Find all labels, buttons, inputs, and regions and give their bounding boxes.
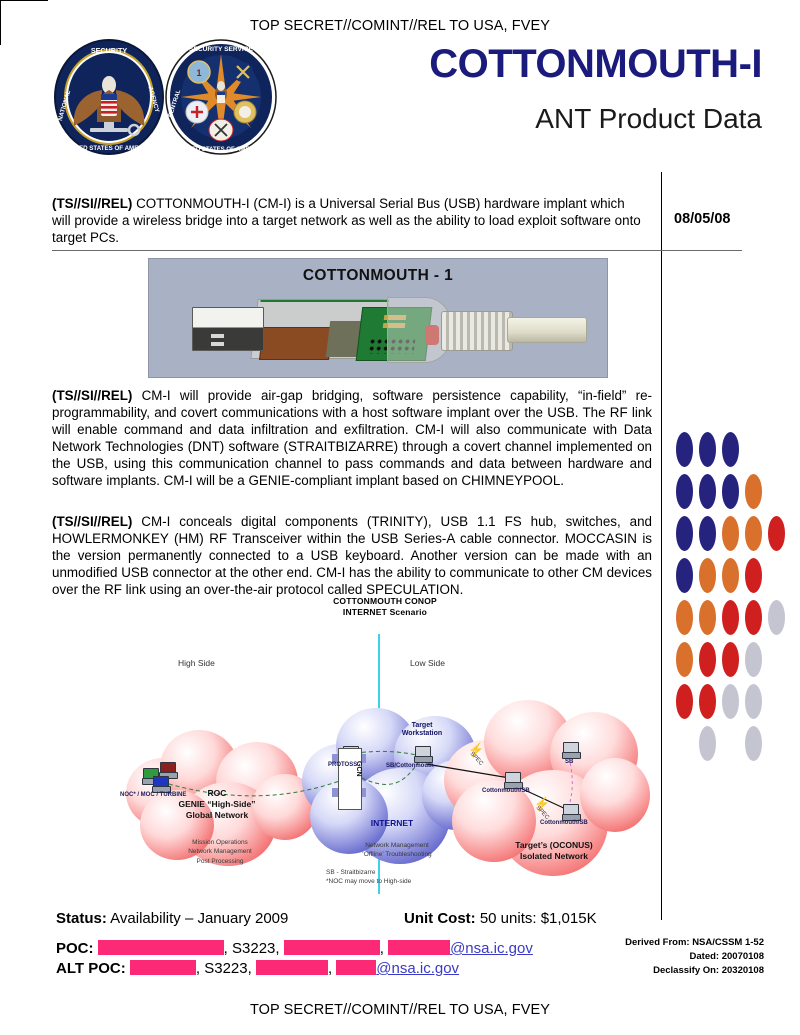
usb-strain-relief-graphic xyxy=(441,311,513,351)
cottonmouth-sb-label-2: Cottonmouth/SB xyxy=(540,820,588,826)
alt-poc-email-domain: @nsa.ic.gov xyxy=(376,960,459,977)
roc-name-line2: GENIE “High-Side” xyxy=(179,799,256,809)
classification-banner-top: TOP SECRET//COMINT//REL TO USA, FVEY xyxy=(0,18,800,34)
target-workstation-host xyxy=(414,746,431,761)
ant-dot-r3-c1 xyxy=(676,516,693,551)
roc-host-blue xyxy=(152,776,169,791)
ant-status-dot-matrix xyxy=(676,432,794,772)
usb-connector-notch-2 xyxy=(211,342,224,346)
high-side-label: High Side xyxy=(178,658,215,668)
product-image-panel: COTTONMOUTH - 1 xyxy=(148,258,608,378)
alt-poc-phone-redaction xyxy=(256,960,328,975)
ant-dot-r4-c4 xyxy=(745,558,762,593)
paragraph-capabilities: (TS//SI//REL) CM-I will provide air-gap … xyxy=(52,388,652,490)
sb-label: SB xyxy=(565,759,573,765)
alt-poc-org-code: , S3223, xyxy=(196,960,252,977)
ant-dot-r1-c1 xyxy=(676,432,693,467)
unit-cost-label: Unit Cost: xyxy=(404,910,476,927)
internet-cloud-name: INTERNET xyxy=(332,818,452,829)
usb-brown-block-graphic xyxy=(259,327,333,360)
alt-poc-name-redaction xyxy=(130,960,196,975)
svg-text:1: 1 xyxy=(196,68,201,78)
dated: Dated: 20070108 xyxy=(625,950,764,964)
conop-title-line1: COTTONMOUTH CONOP xyxy=(333,596,437,606)
ant-dot-r1-c2 xyxy=(699,432,716,467)
ant-dot-r5-c1 xyxy=(676,600,693,635)
ant-dot-r2-c4 xyxy=(745,474,762,509)
nsa-seal: SECURITY UNITED STATES OF AMERICA NATION… xyxy=(52,38,166,156)
ant-dot-r4-c1 xyxy=(676,558,693,593)
poc-org-code: , S3223, xyxy=(224,940,280,957)
poc-email-user-redaction xyxy=(388,940,450,955)
svg-text:SECURITY: SECURITY xyxy=(91,46,128,55)
host-base xyxy=(414,756,433,763)
paragraph-components: (TS//SI//REL) CM-I conceals digital comp… xyxy=(52,514,652,599)
paragraph-intro: (TS//SI//REL) COTTONMOUTH-I (CM-I) is a … xyxy=(52,196,644,247)
margin-vertical-rule xyxy=(661,172,662,920)
status-value: Availability – January 2009 xyxy=(107,910,289,927)
svg-text:UNITED STATES OF AMERICA: UNITED STATES OF AMERICA xyxy=(65,145,154,152)
footnote-line2: *NOC may move to High-side xyxy=(326,878,411,885)
ant-dot-r3-c3 xyxy=(722,516,739,551)
gcn-gateway-box xyxy=(338,748,362,810)
ant-dot-r4-c3 xyxy=(722,558,739,593)
usb-connector-notch-1 xyxy=(211,334,224,338)
conop-diagram: COTTONMOUTH CONOP INTERNET Scenario High… xyxy=(110,596,660,896)
target-cloud-line1: Target’s (OCONUS) xyxy=(515,840,592,850)
ant-dot-r3-c2 xyxy=(699,516,716,551)
document-page: TOP SECRET//COMINT//REL TO USA, FVEY SEC… xyxy=(0,0,800,1035)
ant-dot-r2-c1 xyxy=(676,474,693,509)
roc-name-line3: Global Network xyxy=(186,810,248,820)
paragraph-capabilities-text: CM-I will provide air-gap bridging, soft… xyxy=(52,388,652,488)
roc-host-label: NOC* / MOC / TURBINE xyxy=(120,792,186,798)
roc-host-red xyxy=(159,762,176,777)
poc-phone-redaction xyxy=(284,940,380,955)
gcn-label: GCN xyxy=(336,761,362,777)
usb-connector-graphic xyxy=(192,307,264,351)
target-workstation-title: Target Workstation xyxy=(392,722,452,739)
margin-tick-top xyxy=(0,0,48,1)
ant-dot-r7-c2 xyxy=(699,684,716,719)
ant-dot-r8-c4 xyxy=(745,726,762,761)
ant-dot-r3-c4 xyxy=(745,516,762,551)
ant-dot-r5-c2 xyxy=(699,600,716,635)
ant-dot-r6-c3 xyxy=(722,642,739,677)
product-image-caption: COTTONMOUTH - 1 xyxy=(149,267,607,285)
alt-poc-email-user-redaction xyxy=(336,960,376,975)
css-seal: 1 SECURITY SERVICE UNITED STATES OF AMER… xyxy=(163,38,279,156)
poc-comma: , xyxy=(380,940,384,957)
declassify-on: Declassify On: 20320108 xyxy=(625,964,764,978)
conop-title: COTTONMOUTH CONOP INTERNET Scenario xyxy=(110,596,660,619)
ant-dot-r5-c3 xyxy=(722,600,739,635)
intro-divider-rule xyxy=(52,250,742,251)
page-title: COTTONMOUTH-I xyxy=(429,44,762,84)
ant-dot-r3-c5 xyxy=(768,516,785,551)
classification-marking-3: (TS//SI//REL) xyxy=(52,514,132,529)
document-date: 08/05/08 xyxy=(674,211,730,227)
ant-dot-r1-c3 xyxy=(722,432,739,467)
usb-cable-graphic xyxy=(507,317,587,343)
footnote-line1: SB - Straitbizarre xyxy=(326,869,376,876)
alt-poc-comma: , xyxy=(328,960,332,977)
alt-poc-label: ALT POC: xyxy=(56,960,126,977)
ant-dot-r6-c2 xyxy=(699,642,716,677)
classification-marking-intro: (TS//SI//REL) xyxy=(52,196,132,211)
unit-cost-value: 50 units: $1,015K xyxy=(476,910,597,927)
cottonmouth-sb-host-1 xyxy=(504,772,521,787)
page-subtitle: ANT Product Data xyxy=(535,105,762,133)
ant-dot-r7-c1 xyxy=(676,684,693,719)
paragraph-intro-text: COTTONMOUTH-I (CM-I) is a Universal Seri… xyxy=(52,196,641,245)
ant-dot-r4-c2 xyxy=(699,558,716,593)
cottonmouth-sb-label-1: Cottonmouth/SB xyxy=(482,788,530,794)
target-workstation-label: SB/Cottonmouth xyxy=(386,763,434,769)
ant-dot-r7-c4 xyxy=(745,684,762,719)
alt-poc-row: ALT POC: , S3223, , @nsa.ic.gov xyxy=(56,960,459,977)
classification-banner-bottom: TOP SECRET//COMINT//REL TO USA, FVEY xyxy=(0,1002,800,1018)
svg-text:SECURITY SERVICE: SECURITY SERVICE xyxy=(189,46,253,53)
sb-host xyxy=(562,742,579,757)
conop-title-line2: INTERNET Scenario xyxy=(110,607,660,618)
poc-name-redaction xyxy=(98,940,224,955)
host-base xyxy=(562,752,581,759)
ant-dot-r5-c5 xyxy=(768,600,785,635)
roc-notes: Mission Operations Network Management Po… xyxy=(150,838,290,866)
ant-dot-r7-c3 xyxy=(722,684,739,719)
classification-marking-2: (TS//SI//REL) xyxy=(52,388,132,403)
svg-text:UNITED STATES OF AMERICA: UNITED STATES OF AMERICA xyxy=(178,147,265,153)
roc-name-line1: ROC xyxy=(208,788,227,798)
ant-dot-r6-c4 xyxy=(745,642,762,677)
status-label: Status: xyxy=(56,910,107,927)
ant-dot-r8-c2 xyxy=(699,726,716,761)
poc-label: POC: xyxy=(56,940,94,957)
paragraph-components-text: CM-I conceals digital components (TRINIT… xyxy=(52,514,652,597)
low-side-label: Low Side xyxy=(410,658,445,668)
poc-row: POC: , S3223, , @nsa.ic.gov xyxy=(56,940,533,957)
ant-dot-r6-c1 xyxy=(676,642,693,677)
ant-dot-r2-c3 xyxy=(722,474,739,509)
status-line: Status: Availability – January 2009 xyxy=(56,910,288,927)
classification-authority-block: Derived From: NSA/CSSM 1-52 Dated: 20070… xyxy=(625,936,764,977)
poc-email-domain: @nsa.ic.gov xyxy=(450,940,533,957)
target-cloud-line2: Isolated Network xyxy=(520,851,588,861)
derived-from: Derived From: NSA/CSSM 1-52 xyxy=(625,936,764,950)
ant-dot-r5-c4 xyxy=(745,600,762,635)
ant-dot-r2-c2 xyxy=(699,474,716,509)
target-cloud-name: Target’s (OCONUS) Isolated Network xyxy=(484,840,624,862)
cottonmouth-sb-host-2 xyxy=(562,804,579,819)
unit-cost-line: Unit Cost: 50 units: $1,015K xyxy=(404,910,597,927)
